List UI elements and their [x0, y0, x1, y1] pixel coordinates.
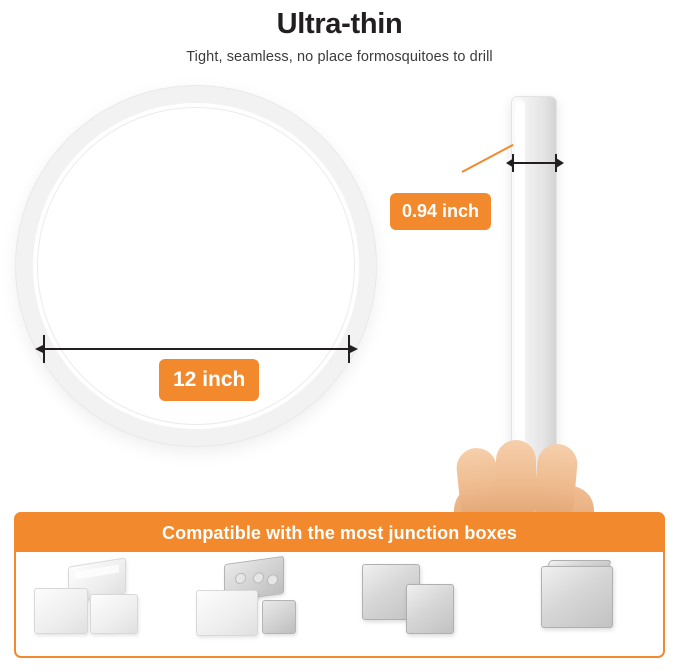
knockout-hole-icon — [235, 572, 246, 585]
product-diagram: 12 inch 0.94 inch — [0, 72, 679, 512]
knockout-hole-icon — [253, 572, 264, 585]
metal-junction-box-square — [541, 566, 613, 628]
header: Ultra-thin Tight, seamless, no place for… — [0, 0, 679, 65]
plastic-junction-box-body — [90, 594, 138, 634]
round-panel-light-side-view — [511, 96, 557, 471]
finger — [496, 440, 536, 514]
junction-box-item — [340, 552, 502, 658]
page-title: Ultra-thin — [0, 0, 679, 41]
thickness-dimension-arrow — [513, 162, 557, 164]
compatibility-title: Compatible with the most junction boxes — [16, 514, 663, 552]
box-lid-highlight — [75, 565, 119, 580]
compatibility-panel: Compatible with the most junction boxes — [14, 512, 665, 658]
plastic-junction-box-body — [196, 590, 258, 636]
junction-box-item — [16, 552, 178, 658]
diameter-badge: 12 inch — [159, 359, 259, 401]
thickness-badge: 0.94 inch — [390, 193, 491, 230]
terminal-block — [262, 600, 296, 634]
hand-holding-panel — [452, 439, 602, 514]
metal-junction-box-square — [406, 584, 454, 634]
plastic-junction-box-body — [34, 588, 88, 634]
junction-box-gallery — [16, 552, 663, 658]
finger — [455, 446, 502, 516]
knockout-hole-icon — [267, 574, 278, 587]
junction-box-item — [178, 552, 340, 658]
finger — [533, 442, 579, 515]
diameter-dimension-arrow — [44, 348, 349, 350]
junction-box-item — [501, 552, 663, 658]
page-subtitle: Tight, seamless, no place formosquitoes … — [0, 41, 679, 65]
